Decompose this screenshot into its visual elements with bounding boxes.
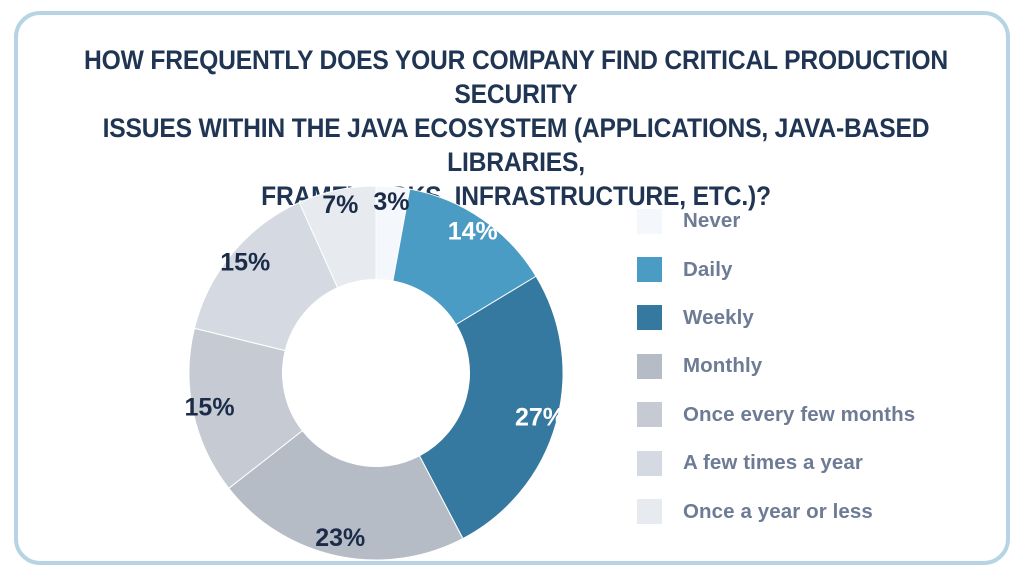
legend-item[interactable]: Weekly: [637, 294, 977, 342]
donut-slice-label: 23%: [315, 524, 365, 552]
legend-item-label: Weekly: [683, 306, 754, 330]
infographic-card: HOW FREQUENTLY DOES YOUR COMPANY FIND CR…: [14, 11, 1010, 565]
legend-color-swatch: [637, 451, 662, 476]
legend-color-swatch: [637, 499, 662, 524]
legend-item-label: Monthly: [683, 354, 762, 378]
donut-slice-label: 15%: [185, 393, 235, 421]
page-title-line-2: ISSUES WITHIN THE JAVA ECOSYSTEM (APPLIC…: [81, 111, 951, 179]
legend-item[interactable]: Once a year or less: [637, 487, 977, 535]
legend-color-swatch: [637, 402, 662, 427]
legend-item[interactable]: Never: [637, 197, 977, 245]
page-title-line-1: HOW FREQUENTLY DOES YOUR COMPANY FIND CR…: [81, 43, 951, 111]
legend-item-label: Once every few months: [683, 403, 915, 427]
donut-slice-label: 27%: [515, 403, 565, 431]
donut-chart: 3%14%27%23%15%15%7%: [173, 170, 579, 576]
legend-color-swatch: [637, 354, 662, 379]
donut-chart-svg: 3%14%27%23%15%15%7%: [173, 170, 579, 576]
legend-item-label: A few times a year: [683, 451, 863, 475]
donut-slice-group: [189, 186, 563, 560]
legend-item-label: Never: [683, 209, 741, 233]
legend-item[interactable]: Daily: [637, 245, 977, 293]
donut-slice-label: 3%: [373, 188, 409, 216]
legend-item[interactable]: Monthly: [637, 342, 977, 390]
legend-item-label: Once a year or less: [683, 500, 873, 524]
donut-slice-label: 14%: [448, 217, 498, 245]
legend-item[interactable]: Once every few months: [637, 391, 977, 439]
legend-item-label: Daily: [683, 258, 733, 282]
legend-color-swatch: [637, 209, 662, 234]
legend-color-swatch: [637, 257, 662, 282]
legend-color-swatch: [637, 305, 662, 330]
donut-slice-label: 7%: [322, 191, 358, 219]
donut-slice-label: 15%: [220, 249, 270, 277]
legend-item[interactable]: A few times a year: [637, 439, 977, 487]
chart-legend: NeverDailyWeeklyMonthlyOnce every few mo…: [637, 197, 977, 536]
